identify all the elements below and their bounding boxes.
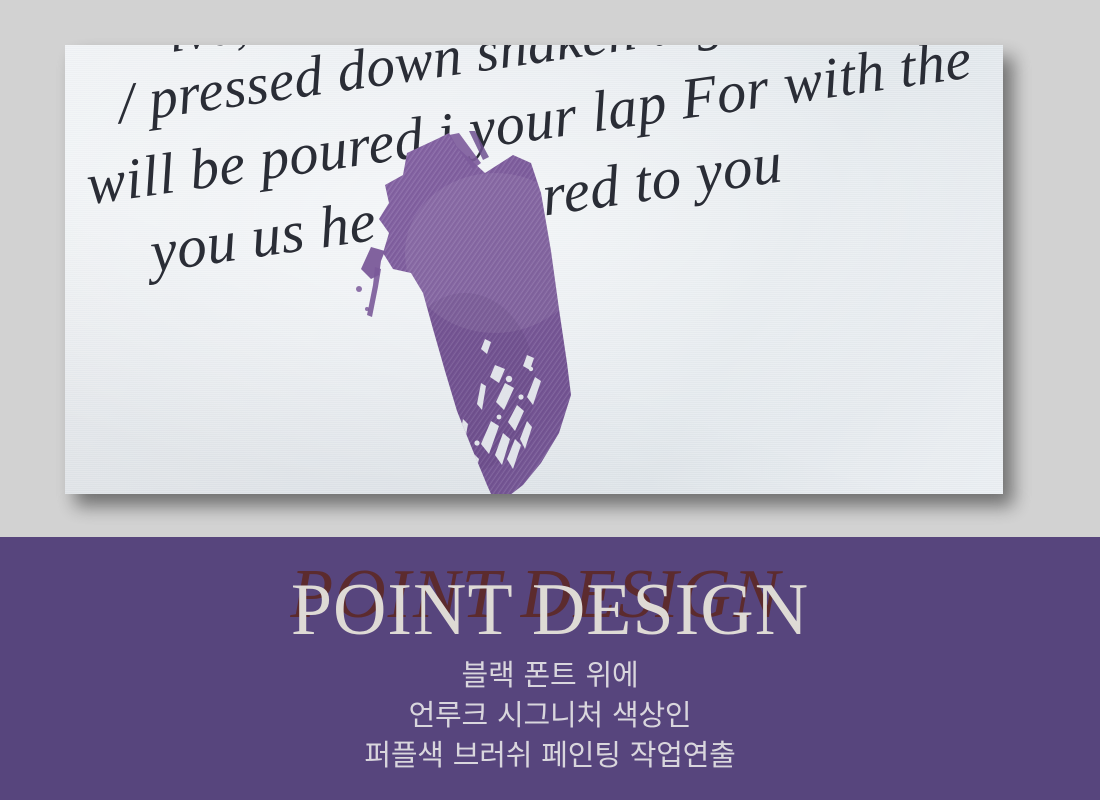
title-block: POINT DESIGN POINT DESIGN	[0, 555, 1100, 647]
subtitle-line-1: 블랙 폰트 위에	[0, 655, 1100, 695]
brush-stroke-photo: ive, and it will be given / to you A goo…	[65, 45, 1003, 494]
photo-block: ive, and it will be given / to you A goo…	[65, 45, 1003, 494]
subtitle-line-2: 언루크 시그니처 색상인	[0, 695, 1100, 735]
page-title: POINT DESIGN	[0, 568, 1100, 653]
poster-canvas: ive, and it will be given / to you A goo…	[0, 0, 1100, 800]
subtitle-line-3: 퍼플색 브러쉬 페인팅 작업연출	[0, 735, 1100, 775]
purple-banner: POINT DESIGN POINT DESIGN 블랙 폰트 위에 언루크 시…	[0, 537, 1100, 800]
subtitle-block: 블랙 폰트 위에 언루크 시그니처 색상인 퍼플색 브러쉬 페인팅 작업연출	[0, 655, 1100, 775]
